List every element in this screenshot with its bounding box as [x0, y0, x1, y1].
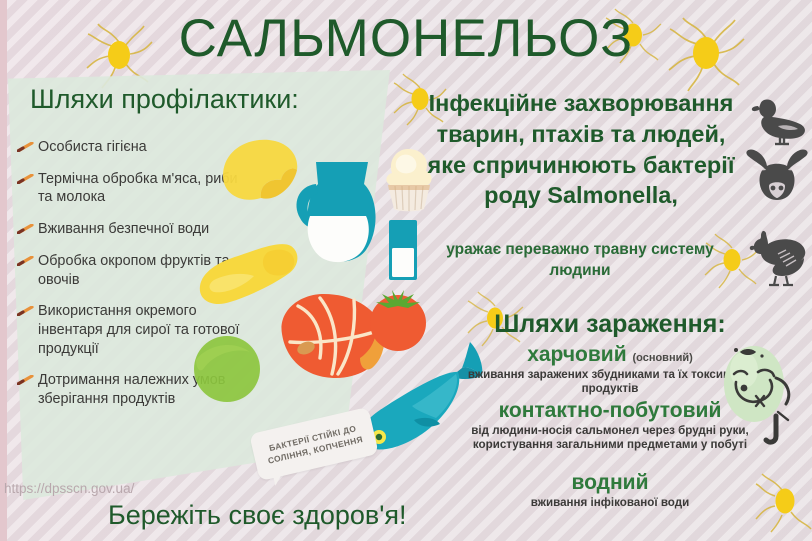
milk-jug-icon	[290, 156, 384, 274]
transmission-term-qualifier: (основний)	[632, 352, 692, 364]
transmission-term-label: харчовий	[527, 343, 626, 366]
transmission-term-label: контактно-побутовий	[499, 399, 722, 422]
transmission-route: водний вживання інфікованої води	[440, 472, 780, 510]
list-item-label: Вживання безпечної води	[38, 221, 209, 237]
list-item: Термічна обробка м'яса, риби та молока	[14, 170, 244, 207]
footer-tagline: Бережіть своє здоров'я!	[108, 500, 407, 531]
tick-bullet-icon	[17, 224, 34, 234]
list-item-label: Особиста гігієна	[38, 139, 147, 155]
transmission-heading: Шляхи зараження:	[440, 310, 780, 339]
source-url[interactable]: https://dpsscn.gov.ua/	[4, 481, 134, 496]
prevention-heading: Шляхи профілактики:	[30, 84, 299, 115]
tick-bullet-icon	[17, 256, 34, 266]
cow-head-silhouette-icon	[742, 146, 812, 212]
disease-description: Інфекційне захворювання тварин, птахів т…	[416, 88, 746, 211]
chicken-silhouette-icon	[748, 228, 810, 286]
infographic-poster: САЛЬМОНЕЛЬОЗ Шляхи профілактики: Особист…	[0, 0, 812, 541]
tick-bullet-icon	[17, 306, 34, 316]
page-title: САЛЬМОНЕЛЬОЗ	[0, 8, 812, 69]
list-item: Особиста гігієна	[14, 138, 244, 157]
milk-glass-icon	[386, 218, 420, 282]
transmission-term-label: водний	[571, 471, 648, 494]
tick-bullet-icon	[17, 142, 34, 152]
tick-bullet-icon	[17, 174, 34, 184]
duck-silhouette-icon	[748, 96, 810, 146]
egg-mascot-icon	[714, 336, 806, 452]
list-item-label: Термічна обробка м'яса, риби та молока	[38, 171, 238, 206]
tick-bullet-icon	[17, 375, 34, 385]
cabbage-icon	[186, 330, 268, 408]
disease-description-sub: уражає переважно травну систему людини	[420, 240, 740, 281]
transmission-term: водний	[440, 472, 780, 494]
transmission-description: вживання інфікованої води	[440, 496, 780, 510]
left-edge-strip	[0, 0, 7, 541]
